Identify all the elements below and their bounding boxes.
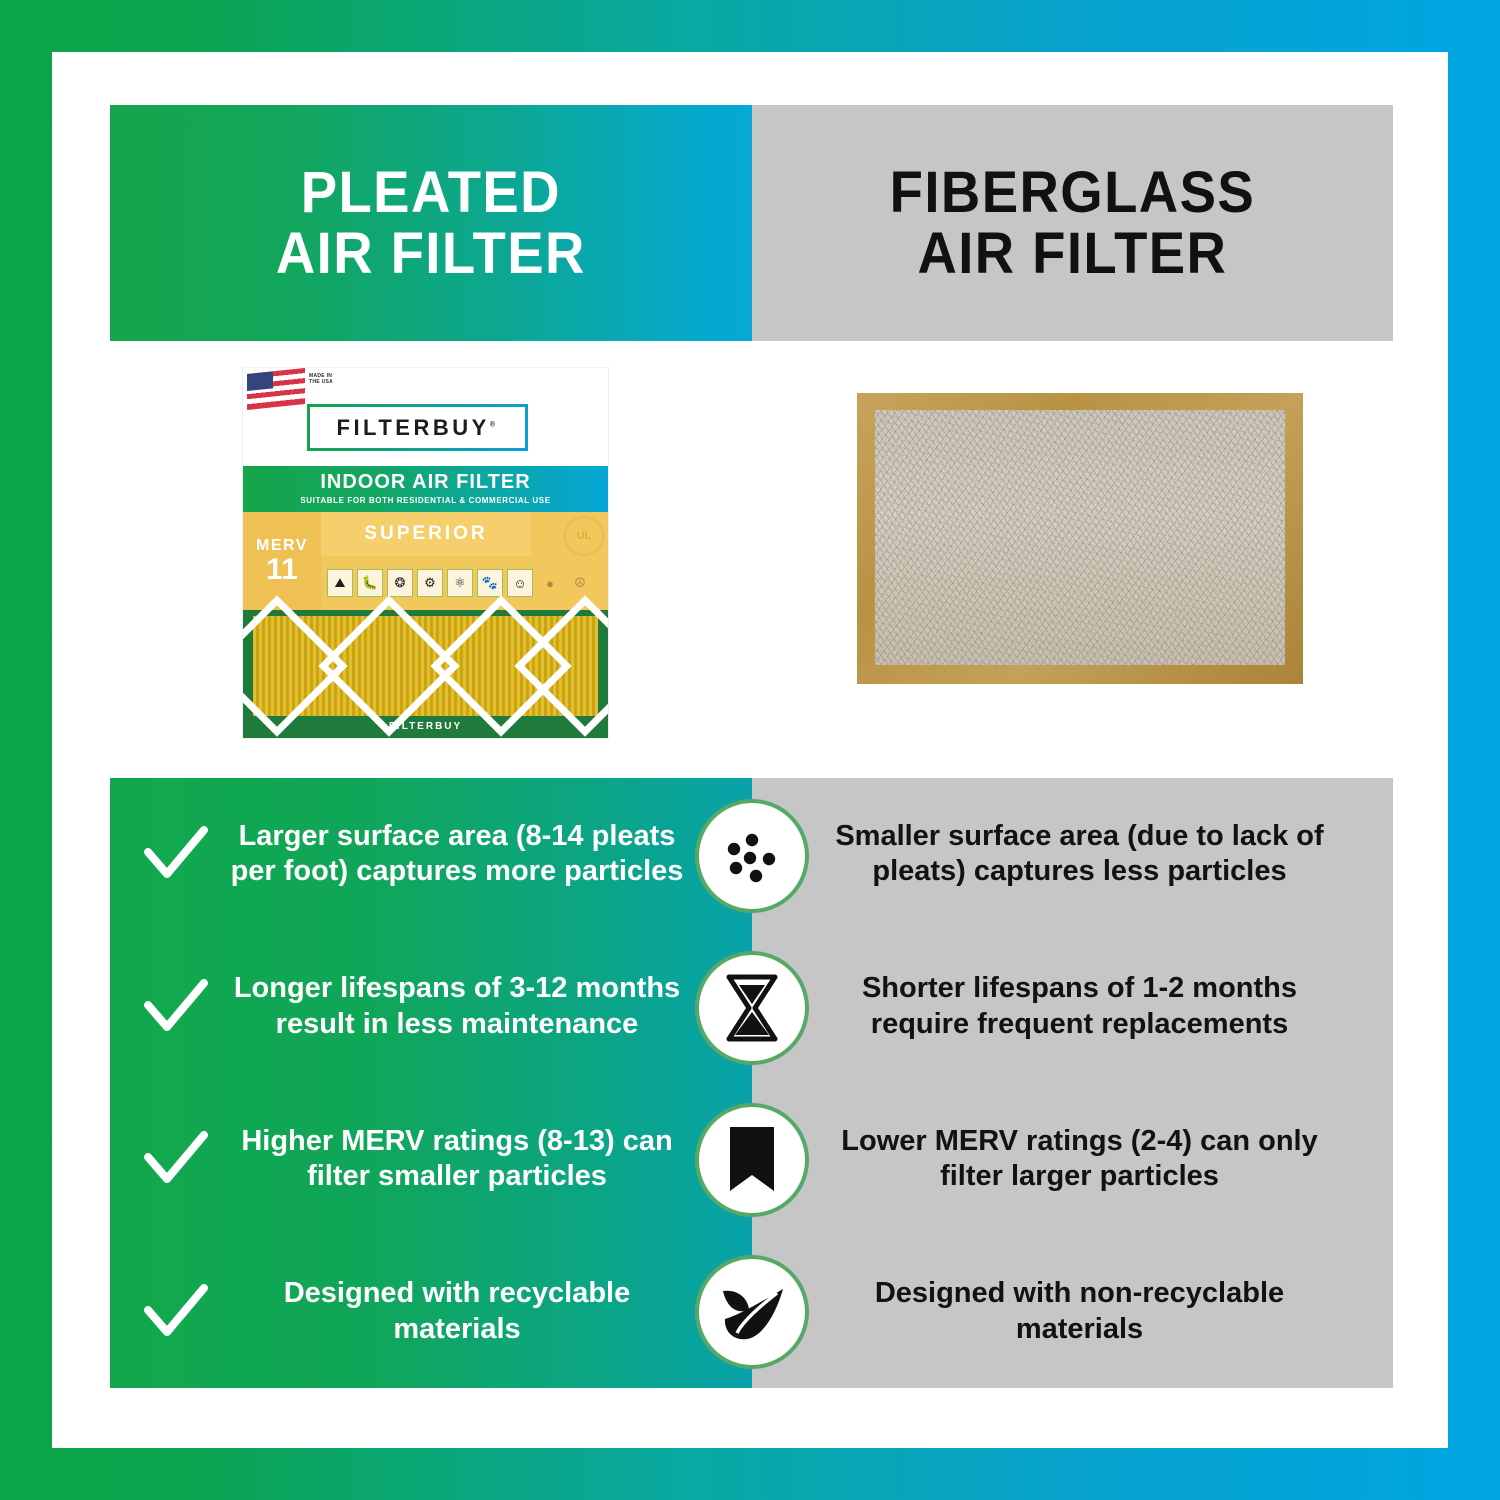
feature-row-left: Higher MERV ratings (8-13) can filter sm… [110, 1083, 752, 1236]
feature-row-left: Designed with recyclable materials [110, 1236, 752, 1389]
filterbuy-logo: FILTERBUY® [307, 404, 528, 451]
feature-text-fiberglass: Designed with non-recyclable materials [822, 1276, 1337, 1347]
trademark-mark: ® [490, 421, 499, 428]
checkmark-icon [140, 1276, 212, 1348]
pollen-icon: ❂ [387, 569, 413, 597]
pleated-product-cell: MADE IN THE USA FILTERBUY® INDOOR AIR FI… [110, 341, 752, 778]
particles-icon [695, 799, 809, 913]
feature-row-left: Larger surface area (8-14 pleats per foo… [110, 778, 752, 931]
header-fiberglass-line2: AIR FILTER [890, 223, 1255, 284]
comparison-header: PLEATED AIR FILTER FIBERGLASS AIR FILTER [110, 105, 1393, 341]
product-images-band: MADE IN THE USA FILTERBUY® INDOOR AIR FI… [110, 341, 1393, 778]
insect-icon: 🐛 [357, 569, 383, 597]
pet-dander-icon: 🐾 [477, 569, 503, 597]
feature-text-fiberglass: Lower MERV ratings (2-4) can only filter… [822, 1124, 1337, 1195]
feature-row-right: Shorter lifespans of 1-2 months require … [752, 931, 1393, 1084]
infographic-root: PLEATED AIR FILTER FIBERGLASS AIR FILTER… [0, 0, 1500, 1500]
feature-text-pleated: Longer lifespans of 3-12 months result i… [218, 971, 696, 1042]
checkmark-icon [140, 971, 212, 1043]
pleated-filter-product-image: MADE IN THE USA FILTERBUY® INDOOR AIR FI… [243, 368, 608, 738]
indoor-air-filter-band: INDOOR AIR FILTER SUITABLE FOR BOTH RESI… [243, 466, 608, 512]
bookmark-icon [695, 1103, 809, 1217]
header-fiberglass: FIBERGLASS AIR FILTER [752, 105, 1393, 341]
usa-flag-icon [247, 368, 305, 410]
feature-row-left: Longer lifespans of 3-12 months result i… [110, 931, 752, 1084]
header-pleated-title: PLEATED AIR FILTER [276, 162, 586, 285]
merv-badge: MERV 11 [243, 512, 321, 610]
band-title: INDOOR AIR FILTER [243, 466, 608, 494]
ul-certification-icon: UL [564, 516, 604, 556]
virus-icon-disabled: ● [537, 569, 563, 597]
odor-icon-disabled: ☮ [567, 569, 593, 597]
grade-label: SUPERIOR [321, 512, 531, 556]
merv-value: 11 [266, 555, 298, 585]
dust-icon: ⛰ [327, 569, 353, 597]
header-pleated: PLEATED AIR FILTER [110, 105, 752, 341]
feature-row-right: Lower MERV ratings (2-4) can only filter… [752, 1083, 1393, 1236]
brand-name: FILTERBUY [337, 415, 490, 440]
feature-rows: Larger surface area (8-14 pleats per foo… [110, 778, 1393, 1388]
checkmark-icon [140, 1123, 212, 1195]
pleated-box-spec-area: MERV 11 SUPERIOR UL ⛰ 🐛 ❂ ⚙ ⚛ 🐾 ☺ ● [243, 512, 608, 610]
mold-spores-icon: ⚙ [417, 569, 443, 597]
fiberglass-media [875, 410, 1285, 665]
feature-row-right: Smaller surface area (due to lack of ple… [752, 778, 1393, 931]
pleated-media-section: FILTERBUY [243, 610, 608, 738]
feature-text-pleated: Larger surface area (8-14 pleats per foo… [218, 819, 696, 890]
feature-row-right: Designed with non-recyclable materials [752, 1236, 1393, 1389]
made-in-line2: THE USA [309, 379, 333, 385]
header-pleated-line2: AIR FILTER [276, 223, 586, 284]
made-in-usa-label: MADE IN THE USA [309, 373, 333, 386]
feature-text-pleated: Designed with recyclable materials [218, 1276, 696, 1347]
header-pleated-line1: PLEATED [301, 160, 561, 225]
fiberglass-product-cell [752, 341, 1393, 778]
checkmark-icon [140, 818, 212, 890]
box-footer-brand: FILTERBUY [243, 716, 608, 738]
header-fiberglass-title: FIBERGLASS AIR FILTER [890, 162, 1255, 285]
feature-text-pleated: Higher MERV ratings (8-13) can filter sm… [218, 1124, 696, 1195]
hourglass-icon [695, 951, 809, 1065]
leaf-icon [695, 1255, 809, 1369]
fiberglass-filter-product-image [857, 393, 1303, 684]
feature-text-fiberglass: Smaller surface area (due to lack of ple… [822, 819, 1337, 890]
filterbuy-logo-text: FILTERBUY® [337, 415, 499, 441]
pleated-box-top: MADE IN THE USA FILTERBUY® [243, 368, 608, 466]
header-fiberglass-line1: FIBERGLASS [890, 160, 1255, 225]
smoke-icon: ☺ [507, 569, 533, 597]
feature-text-fiberglass: Shorter lifespans of 1-2 months require … [822, 971, 1337, 1042]
bacteria-icon: ⚛ [447, 569, 473, 597]
capability-icon-row: ⛰ 🐛 ❂ ⚙ ⚛ 🐾 ☺ ● ☮ [321, 558, 608, 608]
pleat-support-diamonds [253, 616, 598, 716]
band-subtitle: SUITABLE FOR BOTH RESIDENTIAL & COMMERCI… [243, 496, 608, 505]
feature-comparison-panel: Larger surface area (8-14 pleats per foo… [110, 778, 1393, 1388]
